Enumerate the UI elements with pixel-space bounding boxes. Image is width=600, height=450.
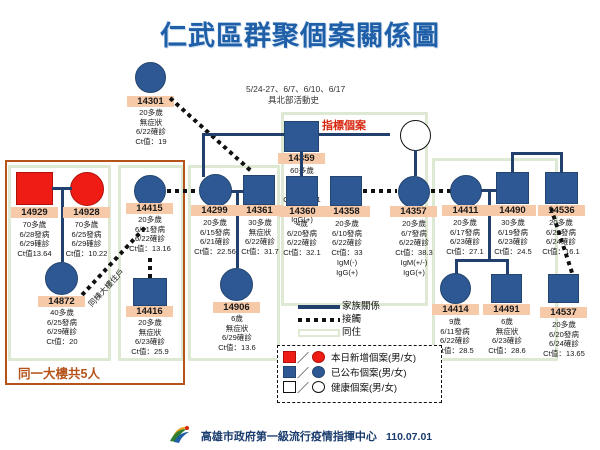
chip-14872: 14872 — [38, 296, 85, 307]
chip-14357: 14357 — [390, 206, 437, 217]
detail-ct: Ct值：13.6 — [206, 343, 268, 353]
detail-ct: Ct值：28.6 — [478, 346, 536, 356]
detail-age: 20多歲 — [120, 108, 182, 118]
detail-onset: 6/21發病 — [119, 225, 181, 235]
legend-node-types: ／ 本日新增個案(男/女) ／ 已公布個案(男/女) ／ 健康個案(男/女) — [277, 345, 442, 403]
family-line-14359-down — [300, 152, 303, 176]
chip-14416: 14416 — [126, 306, 173, 317]
node-14414[interactable] — [440, 273, 471, 304]
detail-ct: Ct值：25.9 — [119, 347, 181, 357]
detail-age: 40多歲 — [31, 308, 93, 318]
node-14536[interactable] — [545, 172, 578, 204]
node-14301[interactable] — [135, 62, 166, 93]
detail-age: 20多歲 — [385, 219, 443, 229]
chip-14906: 14906 — [213, 302, 260, 313]
node-14360[interactable] — [286, 176, 318, 206]
detail-ct: Ct值：16.1 — [532, 247, 590, 257]
detail-age: 70多歲 — [58, 220, 115, 230]
contact-line-14358-14357 — [363, 189, 397, 193]
node-14490[interactable] — [496, 172, 529, 204]
chip-14537: 14537 — [540, 307, 587, 318]
detail-ct: Ct值：38.3 — [385, 248, 443, 258]
node-healthy-spouse[interactable] — [400, 120, 431, 151]
node-14906[interactable] — [220, 268, 253, 301]
detail-onset: 6/25發病 — [31, 318, 93, 328]
detail-onset: 6/10發病 — [318, 229, 376, 239]
detail-symptom: 無症狀 — [478, 327, 536, 337]
chip-14414: 14414 — [432, 304, 479, 315]
detail-ct: Ct值：19 — [120, 137, 182, 147]
detail-age: 70多歲 — [6, 220, 63, 230]
published-case-male-icon — [283, 366, 296, 378]
family-line-14536-up — [560, 152, 563, 173]
legend-label-cohabit: 同住 — [342, 326, 361, 339]
travel-history-note: 5/24-27、6/7、6/10、6/17 具北部活動史 — [246, 84, 446, 107]
detail-14301: 20多歲 無症狀 6/22確診 Ct值：19 — [120, 108, 182, 147]
detail-symptom: 無症狀 — [206, 324, 268, 334]
kaohsiung-city-logo — [168, 424, 194, 447]
travel-note-dates: 5/24-27、6/7、6/10、6/17 — [246, 84, 446, 95]
detail-14906: 6歲 無症狀 6/29確診 Ct值：13.6 — [206, 314, 268, 353]
detail-confirm: 6/22確診 — [318, 238, 376, 248]
chip-14299: 14299 — [191, 205, 238, 216]
chip-14491: 14491 — [483, 304, 530, 315]
detail-14491: 6歲 無症狀 6/23確診 Ct值：28.6 — [478, 317, 536, 356]
legend-row-cohabit: 同住 — [296, 326, 380, 339]
detail-onset: 6/7發病 — [385, 229, 443, 239]
footer-organization: 高雄市政府第一級流行疫情指揮中心 — [201, 431, 377, 443]
detail-onset: 6/25發病 — [58, 230, 115, 240]
green-box-icon — [296, 329, 342, 337]
family-line-14490-up — [511, 152, 514, 173]
family-line-down-to-14299 — [202, 133, 205, 177]
legend-row-published-case: ／ 已公布個案(男/女) — [283, 365, 436, 379]
detail-14872: 40多歲 6/25發病 6/29確診 Ct值：20 — [31, 308, 93, 347]
contact-line-14415-14299 — [167, 189, 199, 193]
chip-14360: 14360 — [279, 206, 326, 217]
detail-confirm: 6/29確診 — [206, 333, 268, 343]
detail-age: 20多歲 — [119, 318, 181, 328]
detail-age: 6歲 — [478, 317, 536, 327]
node-14357[interactable] — [398, 176, 430, 208]
detail-age: 20多歲 — [119, 215, 181, 225]
detail-confirm: 6/22確診 — [119, 234, 181, 244]
detail-confirm: 6/22確診 — [385, 238, 443, 248]
detail-confirm: 6/29確診 — [6, 239, 63, 249]
detail-14928: 70多歲 6/25發病 6/29確診 Ct值：10.22 — [58, 220, 115, 259]
detail-14537: 20多歲 6/20發病 6/24確診 Ct值：13.65 — [535, 320, 593, 359]
family-line-14490-14536-bar — [511, 152, 562, 155]
detail-age: 20多歲 — [318, 219, 376, 229]
healthy-case-male-icon — [283, 381, 296, 393]
same-building-label: 同一大樓共5人 — [18, 363, 100, 382]
detail-age: 9歲 — [426, 317, 484, 327]
detail-symptom: 無症狀 — [120, 118, 182, 128]
slash-separator: ／ — [297, 379, 309, 396]
node-14416[interactable] — [133, 278, 167, 306]
legend-relation-lines: 家族關係 接觸 同住 — [296, 300, 380, 339]
detail-14416: 20多歲 無症狀 6/23確診 Ct值：25.9 — [119, 318, 181, 357]
family-line-14414-14491-bar — [455, 259, 509, 262]
detail-igg: IgG(+) — [385, 268, 443, 278]
node-14491[interactable] — [491, 274, 522, 303]
detail-14358: 20多歲 6/10發病 6/22確診 Ct值：33 IgM(-) IgG(+) — [318, 219, 376, 277]
chip-14928: 14928 — [63, 207, 110, 218]
healthy-case-female-icon — [312, 381, 325, 393]
node-14299[interactable] — [199, 174, 232, 207]
detail-ct: Ct值：33 — [318, 248, 376, 258]
chip-14929: 14929 — [11, 207, 58, 218]
detail-age: 20多歲 — [532, 218, 590, 228]
legend-label-healthy-case: 健康個案(男/女) — [331, 380, 397, 394]
footer: 高雄市政府第一級流行疫情指揮中心 110.07.01 — [0, 424, 600, 447]
detail-symptom: 無症狀 — [119, 328, 181, 338]
detail-14415: 20多歲 6/21發病 6/22確診 Ct值：13.16 — [119, 215, 181, 254]
family-line-14491-down — [506, 259, 509, 275]
legend-label-published-case: 已公布個案(男/女) — [331, 365, 406, 379]
contact-line-14357-14411 — [431, 189, 451, 193]
detail-confirm: 6/22確診 — [120, 127, 182, 137]
legend-row-family: 家族關係 — [296, 300, 380, 313]
node-14359[interactable] — [284, 121, 319, 152]
legend-label-new-case: 本日新增個案(男/女) — [331, 350, 416, 364]
detail-igm: IgM(-) — [318, 258, 376, 268]
detail-ct: Ct值13.64 — [6, 249, 63, 259]
travel-note-text: 具北部活動史 — [246, 95, 446, 106]
detail-igg: IgG(+) — [318, 268, 376, 278]
detail-ct: Ct值：13.16 — [119, 244, 181, 254]
node-14537[interactable] — [548, 274, 579, 303]
new-case-male-icon — [283, 351, 296, 363]
node-14361[interactable] — [243, 175, 275, 205]
node-14358[interactable] — [330, 176, 362, 206]
legend-label-family: 家族關係 — [342, 300, 380, 313]
detail-igm: IgM(+/-) — [385, 258, 443, 268]
family-line-spouse-down — [414, 150, 417, 176]
dotted-line-icon — [296, 318, 342, 322]
chip-14358: 14358 — [323, 206, 370, 217]
node-14872[interactable] — [45, 262, 78, 295]
chip-14301: 14301 — [127, 96, 174, 107]
published-case-female-icon — [312, 366, 325, 378]
detail-confirm: 6/23確診 — [119, 337, 181, 347]
detail-onset: 6/11發病 — [426, 327, 484, 337]
contact-line-14415-14416 — [148, 258, 152, 278]
node-14929[interactable] — [16, 172, 53, 205]
detail-confirm: 6/24確診 — [535, 339, 593, 349]
detail-onset: 6/28發病 — [6, 230, 63, 240]
legend-row-contact: 接觸 — [296, 313, 380, 326]
legend-row-new-case: ／ 本日新增個案(男/女) — [283, 350, 436, 364]
legend-label-contact: 接觸 — [342, 313, 361, 326]
chip-14490: 14490 — [489, 205, 536, 216]
chip-14411: 14411 — [442, 205, 489, 216]
node-14928[interactable] — [70, 172, 104, 206]
detail-confirm: 6/23確診 — [478, 336, 536, 346]
detail-14929: 70多歲 6/28發病 6/29確診 Ct值13.64 — [6, 220, 63, 259]
detail-ct: Ct值：20 — [31, 337, 93, 347]
legend-row-healthy-case: ／ 健康個案(男/女) — [283, 380, 436, 394]
detail-14357: 20多歲 6/7發病 6/22確診 Ct值：38.3 IgM(+/-) IgG(… — [385, 219, 443, 277]
diagram-canvas: 仁武區群聚個案關係圖 5/24-27、6/7、6/10、6/17 具北部活動史 … — [0, 0, 600, 450]
chip-14536: 14536 — [538, 205, 585, 216]
detail-age: 20多歲 — [535, 320, 593, 330]
chip-14415: 14415 — [126, 203, 173, 214]
detail-ct: Ct值：10.22 — [58, 249, 115, 259]
detail-confirm: 6/29確診 — [31, 327, 93, 337]
solid-line-icon — [296, 305, 342, 309]
page-title: 仁武區群聚個案關係圖 — [0, 14, 600, 53]
detail-confirm: 6/29確診 — [58, 239, 115, 249]
node-14411[interactable] — [450, 175, 482, 207]
footer-date: 110.07.01 — [386, 431, 432, 443]
detail-onset: 6/20發病 — [535, 330, 593, 340]
new-case-female-icon — [312, 351, 325, 363]
detail-age: 6歲 — [206, 314, 268, 324]
index-case-label: 指標個案 — [322, 117, 366, 133]
detail-ct: Ct值：13.65 — [535, 349, 593, 359]
